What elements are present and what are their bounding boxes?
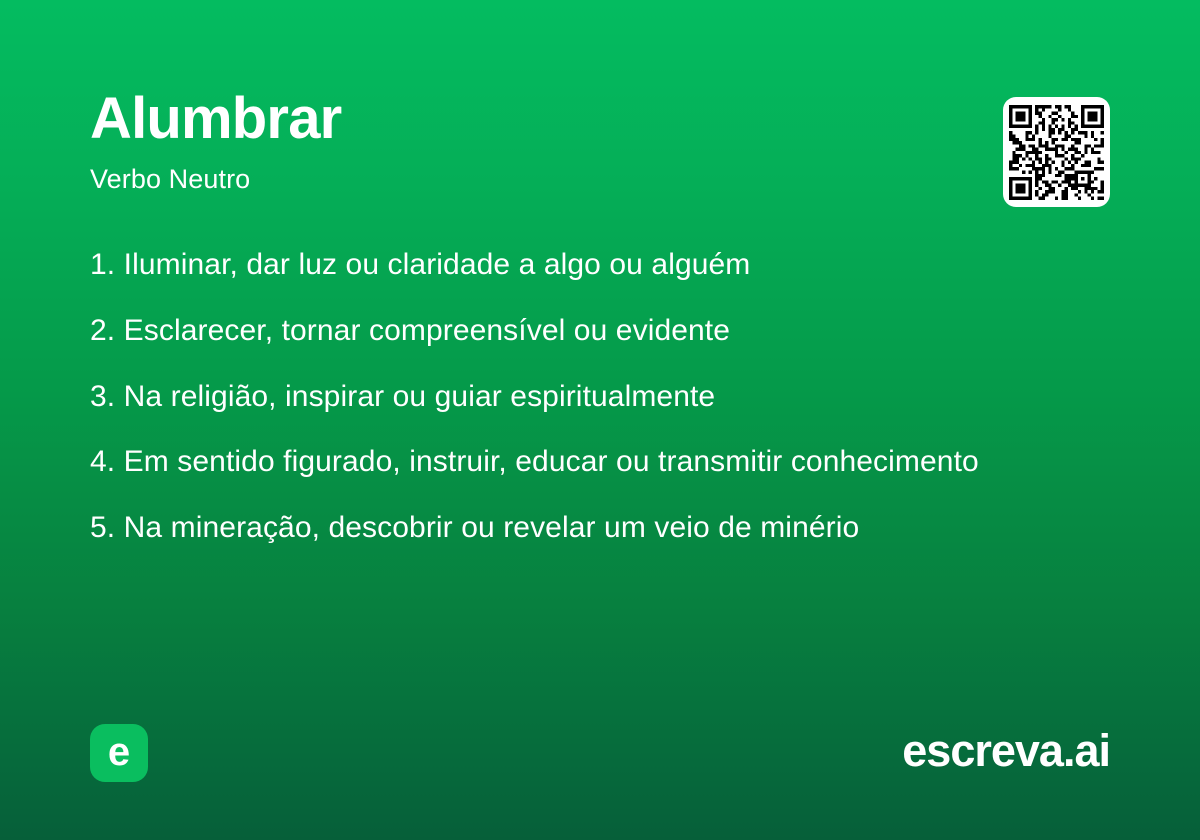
brand-logo-mark[interactable]: e xyxy=(90,724,148,782)
qr-code-icon xyxy=(1009,105,1104,200)
definition-card: Alumbrar Verbo Neutro 1. Iluminar, dar l… xyxy=(0,0,1200,840)
page-title: Alumbrar xyxy=(90,88,970,151)
definition-item: 4. Em sentido figurado, instruir, educar… xyxy=(90,443,1090,481)
word-class-label: Verbo Neutro xyxy=(90,163,970,195)
definition-item: 2. Esclarecer, tornar compreensível ou e… xyxy=(90,312,1090,350)
brand-logo-letter: e xyxy=(108,732,130,772)
definition-item: 5. Na mineração, descobrir ou revelar um… xyxy=(90,509,1090,547)
definition-item: 1. Iluminar, dar luz ou claridade a algo… xyxy=(90,246,1090,284)
brand-wordmark: escreva.ai xyxy=(902,726,1110,776)
definition-item: 3. Na religião, inspirar ou guiar espiri… xyxy=(90,378,1090,416)
header: Alumbrar Verbo Neutro xyxy=(90,88,970,195)
definitions-list: 1. Iluminar, dar luz ou claridade a algo… xyxy=(90,246,1090,547)
qr-code-card[interactable] xyxy=(1003,97,1110,207)
